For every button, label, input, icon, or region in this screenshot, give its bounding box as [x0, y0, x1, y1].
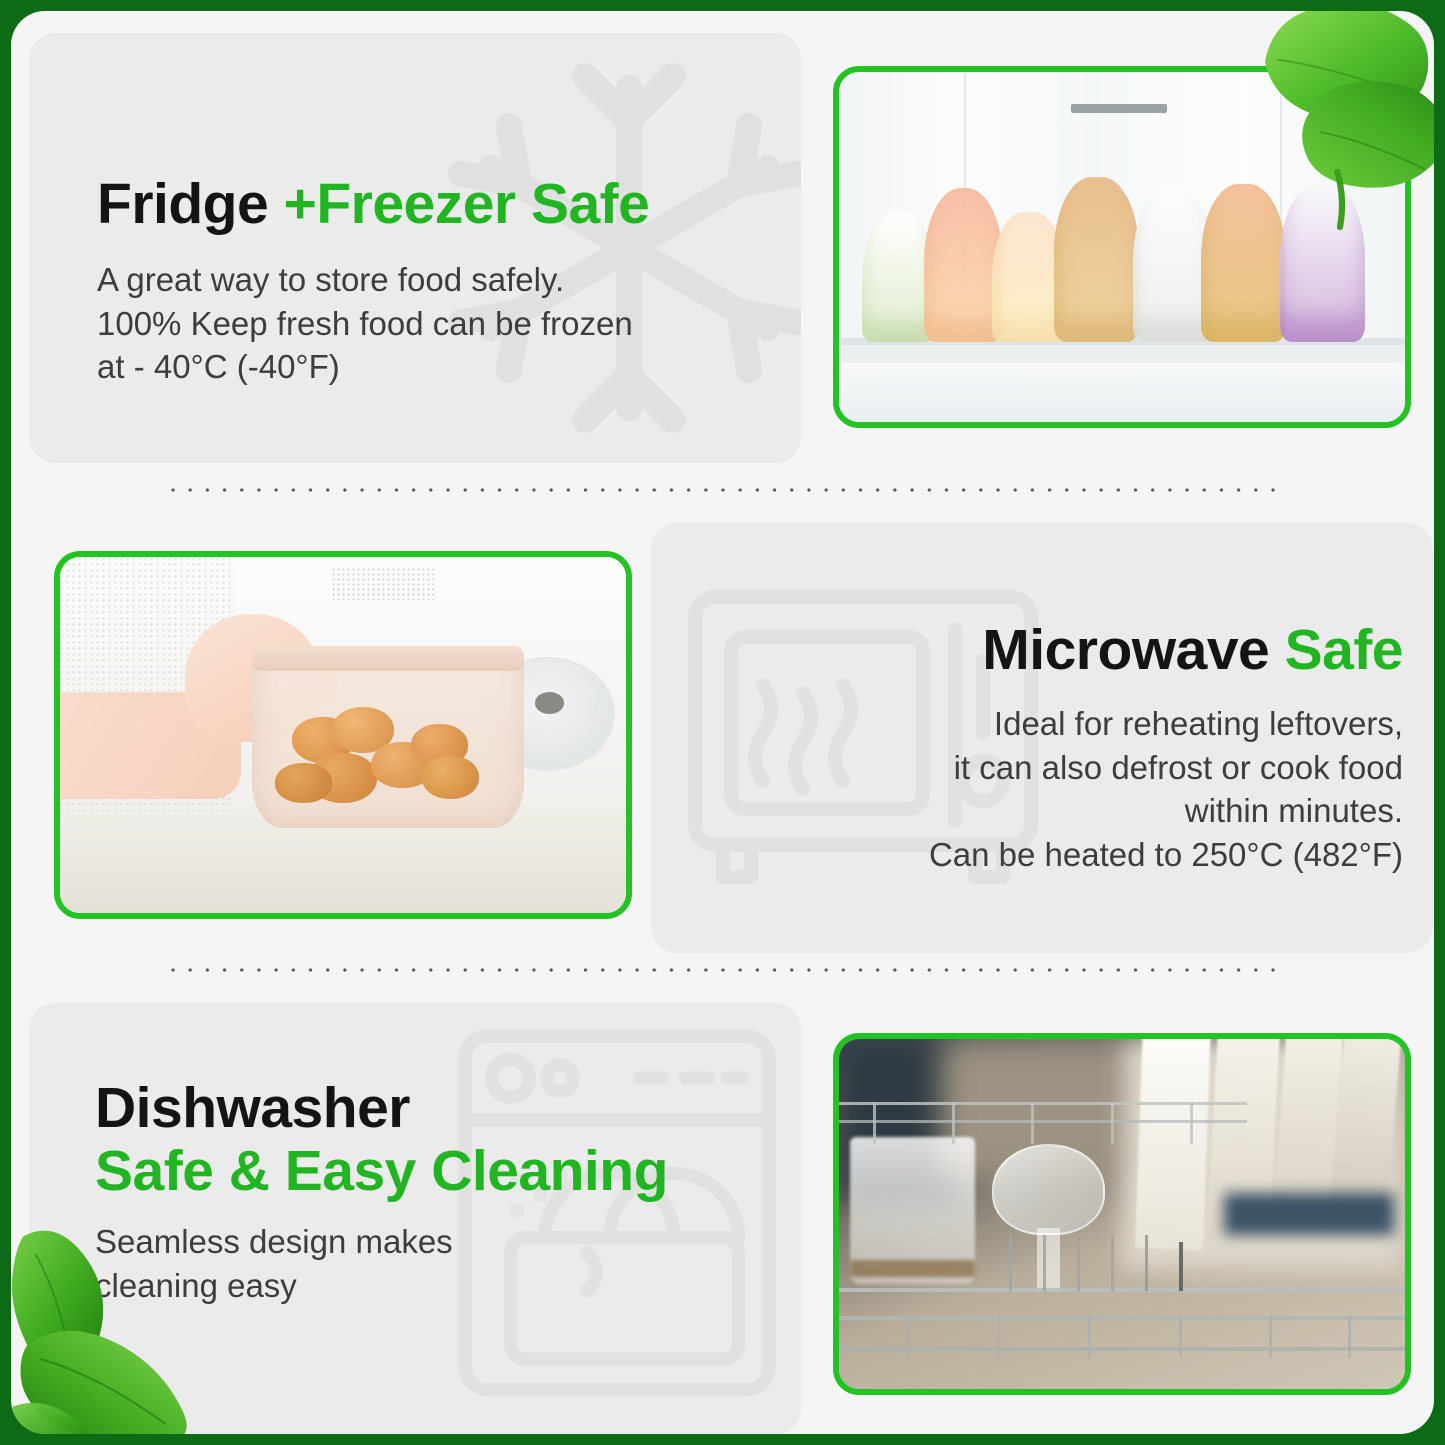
microwave-body-line-4: Can be heated to 250°C (482°F) [929, 836, 1403, 873]
fridge-headline-green: +Freezer Safe [284, 172, 650, 236]
dishwasher-headline-black: Dishwasher [95, 1077, 795, 1140]
microwave-body-line-2: it can also defrost or cook food [954, 749, 1403, 786]
fridge-body: A great way to store food safely. 100% K… [97, 258, 787, 390]
fridge-headline-black: Fridge [97, 172, 268, 236]
microwave-panel: Microwave Safe Ideal for reheating lefto… [651, 523, 1433, 953]
dishwasher-body: Seamless design makes cleaning easy [95, 1220, 795, 1308]
microwave-body: Ideal for reheating leftovers, it can al… [691, 702, 1403, 878]
divider-bottom [171, 968, 1281, 973]
microwave-text-block: Microwave Safe Ideal for reheating lefto… [691, 619, 1403, 877]
outer-green-frame: Fridge +Freezer Safe A great way to stor… [0, 0, 1445, 1445]
dishwasher-body-line-2: cleaning easy [95, 1267, 297, 1304]
fridge-photo-image [839, 72, 1405, 422]
fridge-photo [833, 66, 1411, 428]
fridge-headline: Fridge +Freezer Safe [97, 173, 787, 236]
microwave-photo-image [60, 557, 626, 913]
dishwasher-headline-green: Safe & Easy Cleaning [95, 1140, 795, 1203]
dishwasher-body-line-1: Seamless design makes [95, 1223, 453, 1260]
fridge-panel: Fridge +Freezer Safe A great way to stor… [29, 33, 801, 463]
microwave-photo [54, 551, 632, 919]
fridge-text-block: Fridge +Freezer Safe A great way to stor… [97, 173, 787, 389]
microwave-body-line-1: Ideal for reheating leftovers, [994, 705, 1403, 742]
fridge-body-line-1: A great way to store food safely. [97, 261, 564, 298]
microwave-body-line-3: within minutes. [1185, 792, 1403, 829]
infographic-sheet: Fridge +Freezer Safe A great way to stor… [11, 11, 1434, 1434]
fridge-body-line-3: at - 40°C (-40°F) [97, 348, 340, 385]
dishwasher-text-block: Dishwasher Safe & Easy Cleaning Seamless… [95, 1077, 795, 1308]
dishwasher-panel: Dishwasher Safe & Easy Cleaning Seamless… [29, 1003, 801, 1434]
divider-top [171, 488, 1281, 493]
fridge-body-line-2: 100% Keep fresh food can be frozen [97, 305, 633, 342]
dishwasher-headline: Dishwasher Safe & Easy Cleaning [95, 1077, 795, 1202]
microwave-headline-black: Microwave [982, 618, 1269, 682]
microwave-headline: Microwave Safe [691, 619, 1403, 682]
microwave-headline-green: Safe [1285, 618, 1403, 682]
dishwasher-photo-image [839, 1039, 1405, 1389]
dishwasher-photo [833, 1033, 1411, 1395]
